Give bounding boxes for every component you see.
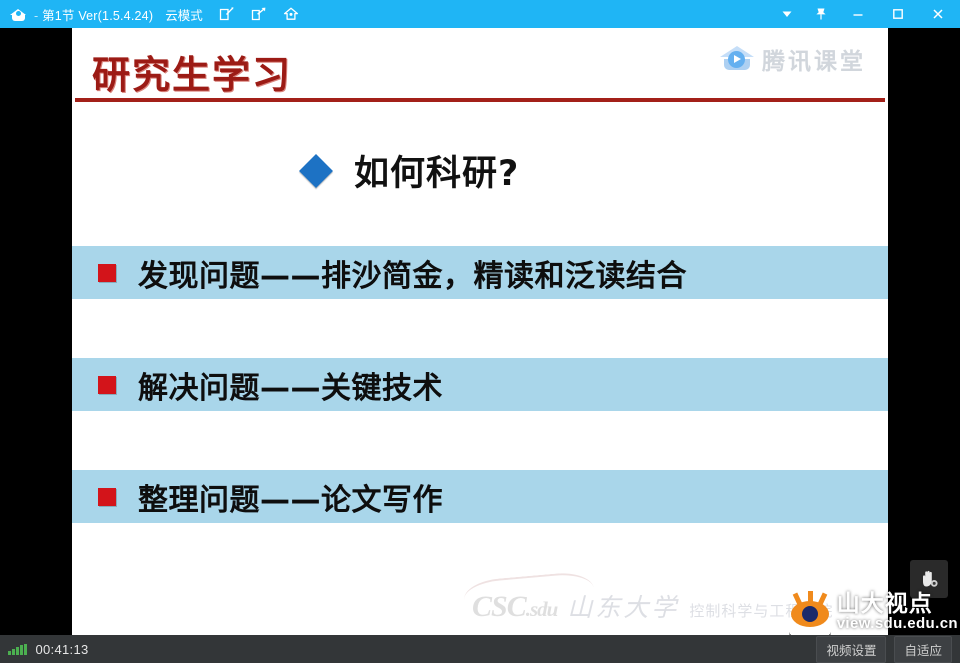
university-name: 山东大学 — [567, 588, 679, 624]
tencent-classroom-logo-icon — [720, 44, 754, 74]
bullet-row-2-text: 解决问题——关键技术 — [138, 363, 443, 407]
title-separator: - — [34, 9, 38, 23]
title-version: Ver(1.5.4.24) — [78, 9, 153, 23]
title-divider — [75, 98, 885, 102]
slide-heading: 如何科研? — [304, 145, 519, 196]
note-edit-icon[interactable] — [219, 6, 235, 22]
slide-canvas: 研究生学习 腾讯课堂 如何科研? 发现问题——排沙简金，精读和泛读结合 解决问题… — [72, 28, 888, 635]
slide-footer-logo: CSC.sdu 山东大学 控制科学与工程学院 — [472, 588, 833, 624]
cloud-mode-label: 云模式 — [165, 5, 203, 24]
pin-icon[interactable] — [804, 0, 838, 28]
status-bar: 00:41:13 视频设置 自适应 — [0, 635, 960, 663]
window-title: - 第1节 Ver(1.5.4.24) — [34, 5, 153, 24]
elapsed-time: 00:41:13 — [36, 642, 89, 657]
raise-hand-button[interactable] — [910, 560, 948, 598]
video-stage[interactable]: 研究生学习 腾讯课堂 如何科研? 发现问题——排沙简金，精读和泛读结合 解决问题… — [0, 28, 960, 635]
close-icon[interactable] — [918, 0, 958, 28]
square-bullet-icon — [98, 488, 116, 506]
title-lesson: 第1节 — [42, 9, 75, 23]
slide-title: 研究生学习 — [92, 44, 292, 99]
minimize-icon[interactable] — [838, 0, 878, 28]
bullet-row-2: 解决问题——关键技术 — [72, 358, 888, 411]
department-name: 控制科学与工程学院 — [689, 600, 833, 624]
bullet-row-1-text: 发现问题——排沙简金，精读和泛读结合 — [138, 251, 687, 295]
window-controls — [770, 0, 960, 28]
tencent-classroom-brand: 腾讯课堂 — [720, 42, 866, 76]
player-window: - 第1节 Ver(1.5.4.24) 云模式 — [0, 0, 960, 663]
adaptive-quality-button[interactable]: 自适应 — [894, 636, 952, 663]
chevron-down-icon[interactable] — [770, 0, 804, 28]
home-icon[interactable] — [283, 6, 299, 22]
video-settings-button[interactable]: 视频设置 — [816, 636, 886, 663]
csc-sub: .sdu — [526, 597, 558, 621]
csc-main: CSC — [472, 590, 526, 623]
share-icon[interactable] — [251, 6, 267, 22]
square-bullet-icon — [98, 264, 116, 282]
diamond-bullet-icon — [299, 154, 333, 188]
brand-label: 腾讯课堂 — [762, 42, 866, 76]
heading-text: 如何科研? — [354, 145, 519, 196]
raise-hand-icon — [917, 567, 941, 591]
bullet-row-3: 整理问题——论文写作 — [72, 470, 888, 523]
square-bullet-icon — [98, 376, 116, 394]
graduation-cap-icon — [10, 6, 27, 23]
maximize-icon[interactable] — [878, 0, 918, 28]
title-bar-left: - 第1节 Ver(1.5.4.24) 云模式 — [0, 0, 299, 28]
csc-logo-text: CSC.sdu — [472, 590, 557, 624]
bullet-row-3-text: 整理问题——论文写作 — [138, 475, 443, 519]
signal-bars-icon — [8, 644, 27, 655]
title-bar-actions — [219, 6, 299, 22]
bullet-row-1: 发现问题——排沙简金，精读和泛读结合 — [72, 246, 888, 299]
title-bar: - 第1节 Ver(1.5.4.24) 云模式 — [0, 0, 960, 28]
